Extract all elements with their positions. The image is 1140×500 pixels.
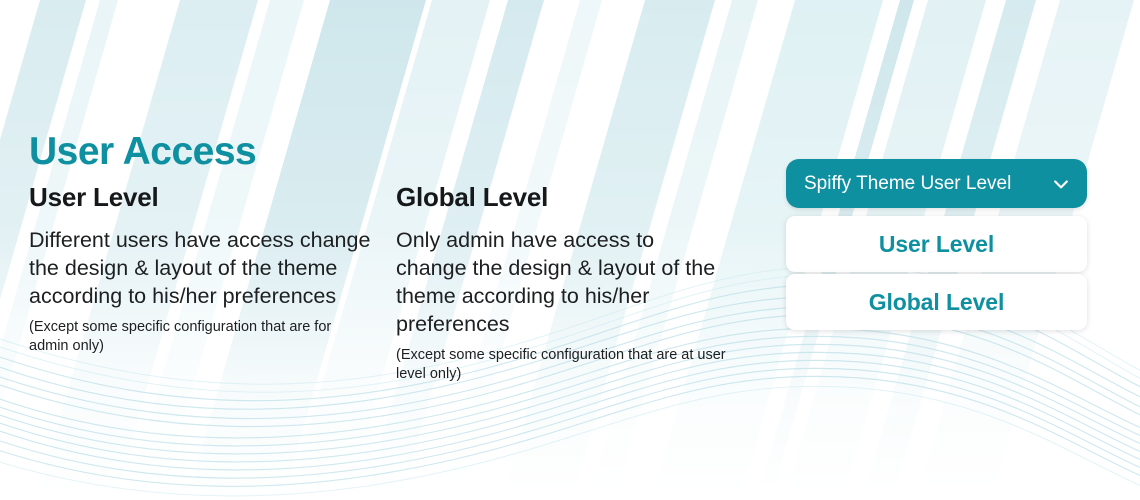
page-title: User Access — [29, 132, 256, 171]
column-body-global-level: Only admin have access to change the des… — [396, 226, 726, 338]
user-level-dropdown: Spiffy Theme User Level User Level Globa… — [786, 159, 1087, 208]
slide-content: User Access User Level Different users h… — [0, 0, 1140, 500]
column-body-user-level: Different users have access change the d… — [29, 226, 374, 310]
dropdown-option-global-level[interactable]: Global Level — [786, 274, 1087, 330]
column-heading-global-level: Global Level — [396, 184, 726, 210]
dropdown-menu: User Level Global Level — [786, 216, 1087, 330]
column-note-user-level: (Except some specific configuration that… — [29, 318, 374, 356]
chevron-down-icon — [1051, 174, 1071, 194]
slide-root: User Access User Level Different users h… — [0, 0, 1140, 500]
dropdown-toggle-button[interactable]: Spiffy Theme User Level — [786, 159, 1087, 208]
column-user-level: User Level Different users have access c… — [29, 184, 374, 356]
dropdown-selected-label: Spiffy Theme User Level — [804, 174, 1051, 193]
column-global-level: Global Level Only admin have access to c… — [396, 184, 726, 384]
dropdown-option-user-level[interactable]: User Level — [786, 216, 1087, 272]
column-heading-user-level: User Level — [29, 184, 374, 210]
column-note-global-level: (Except some specific configuration that… — [396, 346, 726, 384]
